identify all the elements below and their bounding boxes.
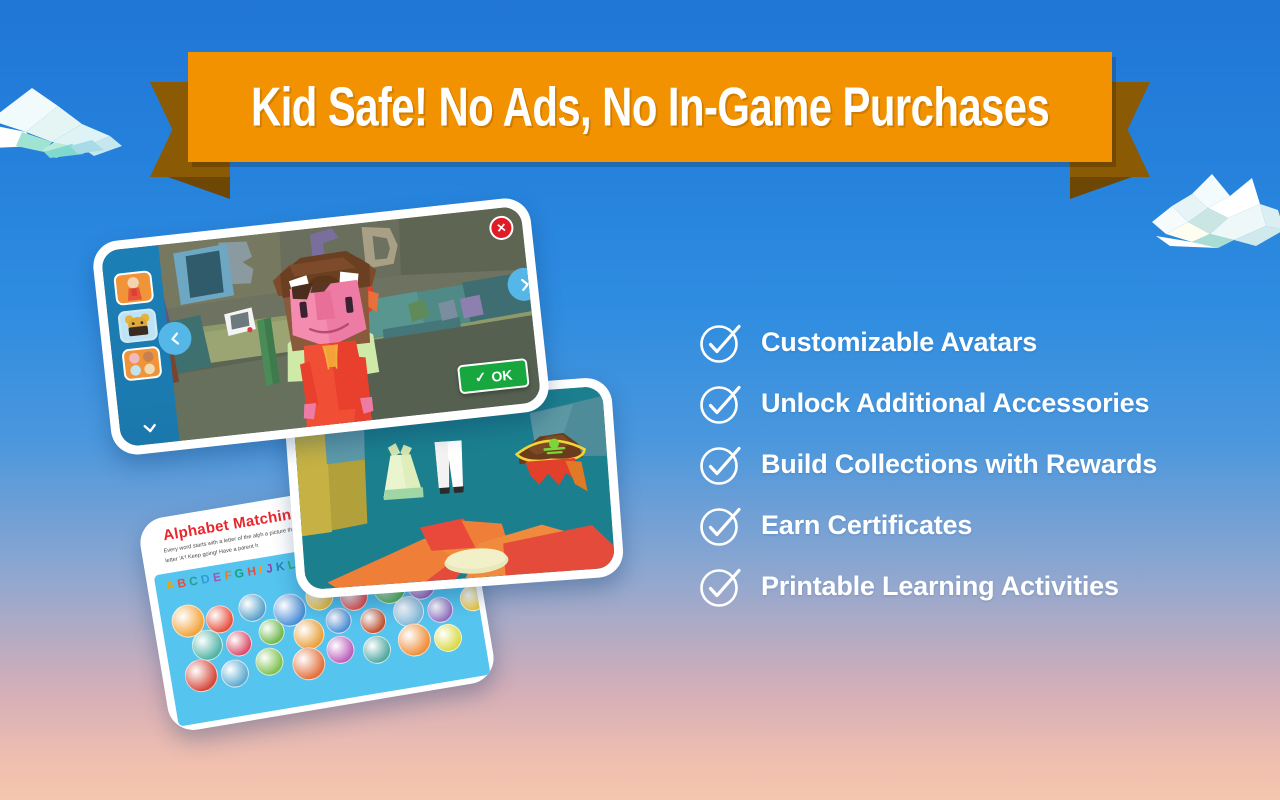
alphabet-letter: K xyxy=(275,559,285,574)
picture-icon xyxy=(290,645,328,683)
body-category-thumb[interactable] xyxy=(113,270,154,306)
feature-list: Customizable Avatars Unlock Additional A… xyxy=(697,320,1217,625)
alphabet-letter: A xyxy=(164,577,176,593)
list-item: Unlock Additional Accessories xyxy=(697,381,1217,426)
face-category-thumb[interactable] xyxy=(121,346,162,382)
list-item: Printable Learning Activities xyxy=(697,564,1217,609)
picture-icon xyxy=(224,628,254,658)
promo-banner-page: Kid Safe! No Ads, No In-Game Purchases C… xyxy=(0,0,1280,800)
alphabet-letter: I xyxy=(259,563,263,577)
list-item: Build Collections with Rewards xyxy=(697,442,1217,487)
picture-icon xyxy=(182,657,220,695)
feature-label: Earn Certificates xyxy=(761,510,972,541)
feature-label: Build Collections with Rewards xyxy=(761,449,1157,480)
ribbon-banner: Kid Safe! No Ads, No In-Game Purchases xyxy=(150,52,1150,177)
feature-label: Unlock Additional Accessories xyxy=(761,388,1149,419)
picture-icon xyxy=(219,657,251,689)
circle-check-icon xyxy=(697,564,743,610)
list-item: Earn Certificates xyxy=(697,503,1217,548)
list-item: Customizable Avatars xyxy=(697,320,1217,365)
picture-icon xyxy=(432,622,464,654)
alphabet-letter: D xyxy=(200,571,212,587)
circle-check-icon xyxy=(697,503,743,549)
banner-headline: Kid Safe! No Ads, No In-Game Purchases xyxy=(251,75,1049,138)
alphabet-letter: J xyxy=(265,561,274,576)
circle-check-icon xyxy=(697,442,743,488)
picture-icon xyxy=(236,592,268,624)
ribbon-fold-right xyxy=(1070,177,1132,199)
alphabet-letter: F xyxy=(224,568,233,583)
cloud-top-left xyxy=(0,62,126,172)
banner-body: Kid Safe! No Ads, No In-Game Purchases xyxy=(188,52,1112,162)
cloud-right xyxy=(1148,160,1280,258)
ok-label: OK xyxy=(491,366,514,384)
picture-icon xyxy=(458,583,488,613)
alphabet-letter: E xyxy=(212,570,222,585)
feature-label: Printable Learning Activities xyxy=(761,571,1119,602)
picture-icon xyxy=(324,634,356,666)
ribbon-fold-left xyxy=(168,177,230,199)
hat-category-thumb[interactable] xyxy=(117,308,158,344)
alphabet-letter: B xyxy=(176,575,187,590)
picture-icon xyxy=(358,606,388,636)
circle-check-icon xyxy=(697,320,743,366)
feature-label: Customizable Avatars xyxy=(761,327,1037,358)
chevron-down-icon[interactable] xyxy=(141,419,159,437)
picture-icon xyxy=(361,634,393,666)
alphabet-letter: H xyxy=(246,564,257,579)
picture-icon xyxy=(253,646,285,678)
alphabet-letter: C xyxy=(188,574,198,589)
picture-icon xyxy=(425,595,455,625)
circle-check-icon xyxy=(697,381,743,427)
check-icon: ✓ xyxy=(474,368,488,386)
close-glyph: ✕ xyxy=(496,221,507,234)
alphabet-letter: G xyxy=(233,566,245,582)
avatar-editor-scene: ✕ ✓ OK xyxy=(101,206,542,447)
picture-icon xyxy=(395,621,433,659)
